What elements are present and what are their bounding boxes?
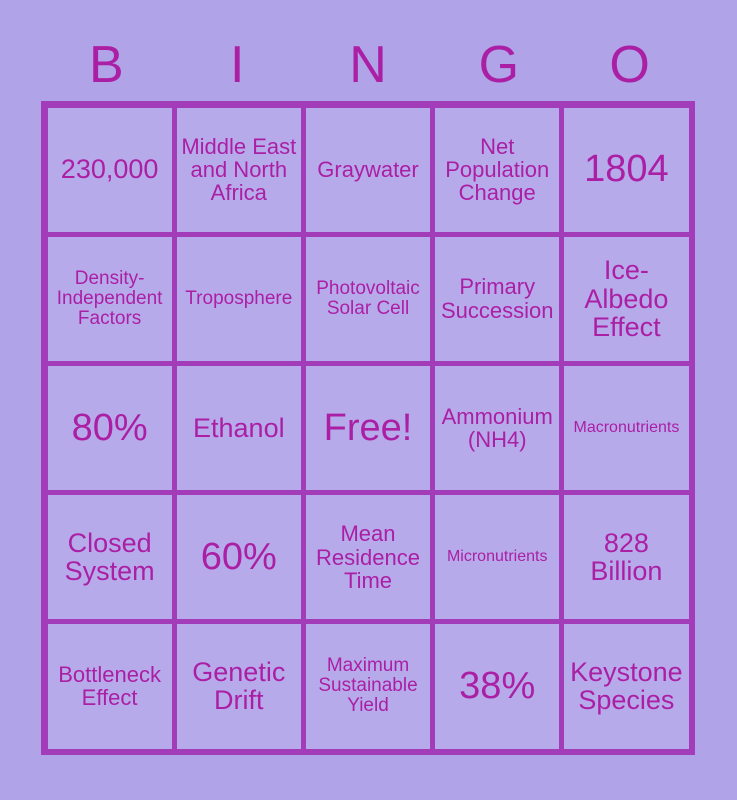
bingo-cell-label: Closed System (51, 529, 169, 586)
bingo-cell-label: 38% (438, 666, 556, 706)
bingo-cell[interactable]: Keystone Species (563, 623, 689, 749)
bingo-cell-label: Ammonium (NH4) (438, 405, 556, 452)
header-letter-b: B (41, 36, 172, 98)
bingo-cell[interactable]: Primary Succession (434, 236, 560, 362)
bingo-grid: 230,000 Middle East and North Africa Gra… (41, 101, 695, 755)
bingo-cell-label: 828 Billion (567, 529, 685, 586)
bingo-cell-label: Micronutrients (438, 549, 556, 566)
bingo-cell-label: 80% (51, 408, 169, 448)
bingo-cell-label: Photovoltaic Solar Cell (309, 279, 427, 319)
bingo-cell[interactable]: Closed System (47, 494, 173, 620)
bingo-cell[interactable]: 80% (47, 365, 173, 491)
bingo-row: Density-Independent Factors Troposphere … (45, 234, 691, 363)
header-letter-o: O (564, 36, 695, 98)
bingo-cell-label: Genetic Drift (180, 658, 298, 715)
bingo-row: 230,000 Middle East and North Africa Gra… (45, 105, 691, 234)
bingo-cell[interactable]: Net Population Change (434, 107, 560, 233)
bingo-row: 80% Ethanol Free! Ammonium (NH4) Macronu… (45, 363, 691, 492)
bingo-cell[interactable]: Bottleneck Effect (47, 623, 173, 749)
bingo-cell-label: Macronutrients (567, 420, 685, 437)
bingo-cell-label: 60% (180, 537, 298, 577)
bingo-cell[interactable]: 828 Billion (563, 494, 689, 620)
bingo-cell-label: Ethanol (180, 414, 298, 443)
bingo-cell-label: Ice-Albedo Effect (567, 256, 685, 342)
bingo-cell-label: Bottleneck Effect (51, 663, 169, 710)
bingo-cell[interactable]: Ethanol (176, 365, 302, 491)
bingo-cell[interactable]: Ammonium (NH4) (434, 365, 560, 491)
header-letter-n: N (303, 36, 434, 98)
bingo-cell-label: Troposphere (180, 289, 298, 309)
bingo-cell-label: Graywater (309, 158, 427, 181)
bingo-cell[interactable]: 60% (176, 494, 302, 620)
bingo-cell[interactable]: 230,000 (47, 107, 173, 233)
bingo-cell-label: 230,000 (51, 155, 169, 184)
bingo-cell-label: Keystone Species (567, 658, 685, 715)
bingo-row: Closed System 60% Mean Residence Time Mi… (45, 493, 691, 622)
bingo-cell-label: Net Population Change (438, 135, 556, 205)
bingo-cell-label: Maximum Sustainable Yield (309, 656, 427, 716)
bingo-header-row: B I N G O (41, 36, 695, 98)
header-letter-g: G (433, 36, 564, 98)
bingo-cell[interactable]: Micronutrients (434, 494, 560, 620)
bingo-cell[interactable]: 1804 (563, 107, 689, 233)
header-letter-i: I (172, 36, 303, 98)
bingo-cell-label: Density-Independent Factors (51, 269, 169, 329)
bingo-cell[interactable]: Middle East and North Africa (176, 107, 302, 233)
bingo-cell[interactable]: Density-Independent Factors (47, 236, 173, 362)
bingo-cell-label: 1804 (567, 149, 685, 189)
bingo-cell[interactable]: Mean Residence Time (305, 494, 431, 620)
bingo-cell-label: Free! (309, 408, 427, 448)
bingo-cell[interactable]: Ice-Albedo Effect (563, 236, 689, 362)
bingo-cell-free[interactable]: Free! (305, 365, 431, 491)
bingo-cell[interactable]: Macronutrients (563, 365, 689, 491)
bingo-cell[interactable]: Troposphere (176, 236, 302, 362)
bingo-cell-label: Primary Succession (438, 275, 556, 322)
bingo-cell[interactable]: Photovoltaic Solar Cell (305, 236, 431, 362)
bingo-cell-label: Middle East and North Africa (180, 135, 298, 205)
bingo-card: B I N G O 230,000 Middle East and North … (0, 0, 737, 800)
bingo-cell[interactable]: Maximum Sustainable Yield (305, 623, 431, 749)
bingo-cell[interactable]: 38% (434, 623, 560, 749)
bingo-cell[interactable]: Genetic Drift (176, 623, 302, 749)
bingo-cell[interactable]: Graywater (305, 107, 431, 233)
bingo-cell-label: Mean Residence Time (309, 522, 427, 592)
bingo-row: Bottleneck Effect Genetic Drift Maximum … (45, 622, 691, 751)
